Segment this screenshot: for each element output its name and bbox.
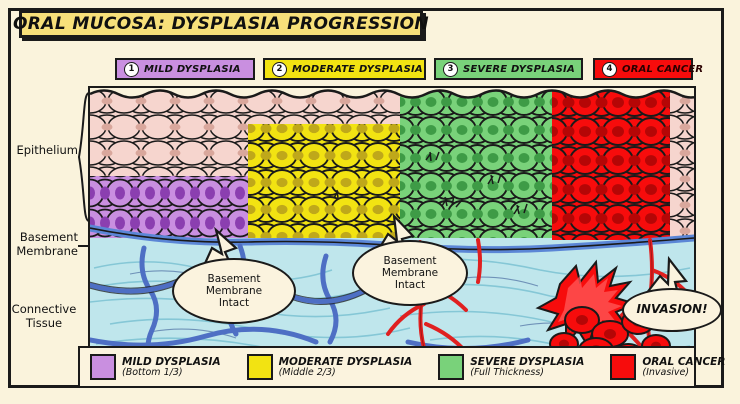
legend-swatch-severe (438, 354, 464, 380)
stage-number-2: 2 (272, 62, 287, 77)
legend-item-cancer: ORAL CANCER (Invasive) (610, 354, 725, 380)
legend-sub-mild: (Bottom 1/3) (122, 368, 221, 379)
stage-label-1: MILD DYSPLASIA (144, 64, 241, 75)
legend-label-cancer: ORAL CANCER (642, 356, 725, 368)
legend-item-mild: MILD DYSPLASIA (Bottom 1/3) (90, 354, 221, 380)
stage-badge-cancer[interactable]: 4 ORAL CANCER (593, 58, 693, 80)
label-connective-tissue: Connective Tissue (8, 303, 80, 330)
stage-number-3: 3 (443, 62, 458, 77)
stage-badge-row: 1 MILD DYSPLASIA 2 MODERATE DYSPLASIA 3 … (115, 58, 693, 80)
callout-2-line2: Membrane (382, 267, 438, 279)
page-title: ORAL MUCOSA: DYSPLASIA PROGRESSION (19, 10, 423, 38)
zone-moderate-dysplasia (248, 88, 400, 238)
tissue-panel (88, 86, 696, 380)
stage-label-4: ORAL CANCER (622, 64, 703, 75)
stage-badge-mild[interactable]: 1 MILD DYSPLASIA (115, 58, 255, 80)
legend-sub-moderate: (Middle 2/3) (279, 368, 413, 379)
callout-1-line1: Basement (206, 273, 262, 285)
legend-sub-cancer: (Invasive) (642, 368, 725, 379)
zone-mild-dysplasia (90, 88, 248, 238)
legend-label-severe: SEVERE DYSPLASIA (470, 356, 584, 368)
stage-number-1: 1 (124, 62, 139, 77)
callout-bm-intact-1: Basement Membrane Intact (172, 258, 296, 324)
callout-2-line1: Basement (382, 255, 438, 267)
label-epithelium: Epithelium (12, 144, 78, 158)
stage-badge-moderate[interactable]: 2 MODERATE DYSPLASIA (263, 58, 426, 80)
zone-severe-dysplasia (400, 88, 552, 238)
callout-invasion: INVASION! (622, 288, 722, 332)
legend: MILD DYSPLASIA (Bottom 1/3) MODERATE DYS… (78, 346, 696, 388)
callout-bm-intact-2: Basement Membrane Intact (352, 240, 468, 306)
label-connective-tissue-line1: Connective (8, 303, 80, 317)
callout-bubble-3: INVASION! (622, 288, 722, 332)
stage-badge-severe[interactable]: 3 SEVERE DYSPLASIA (434, 58, 583, 80)
callout-bubble-1: Basement Membrane Intact (172, 258, 296, 324)
legend-label-moderate: MODERATE DYSPLASIA (279, 356, 413, 368)
callout-bubble-2: Basement Membrane Intact (352, 240, 468, 306)
stage-label-2: MODERATE DYSPLASIA (292, 64, 423, 75)
label-basement-membrane: Basement Membrane (6, 231, 78, 258)
legend-swatch-cancer (610, 354, 636, 380)
label-basement-membrane-line2: Membrane (6, 245, 78, 259)
callout-1-line2: Membrane (206, 285, 262, 297)
legend-label-mild: MILD DYSPLASIA (122, 356, 221, 368)
stage-label-3: SEVERE DYSPLASIA (463, 64, 575, 75)
stage-number-4: 4 (602, 62, 617, 77)
tissue-illustration (90, 88, 694, 378)
callout-1-line3: Intact (206, 297, 262, 309)
callout-invasion-text: INVASION! (636, 303, 707, 317)
legend-sub-severe: (Full Thickness) (470, 368, 584, 379)
label-basement-membrane-line1: Basement (6, 231, 78, 245)
page-title-text: ORAL MUCOSA: DYSPLASIA PROGRESSION (13, 14, 429, 34)
zone-oral-cancer (552, 88, 694, 240)
legend-item-moderate: MODERATE DYSPLASIA (Middle 2/3) (247, 354, 413, 380)
callout-2-line3: Intact (382, 279, 438, 291)
legend-swatch-mild (90, 354, 116, 380)
legend-swatch-moderate (247, 354, 273, 380)
label-connective-tissue-line2: Tissue (8, 317, 80, 331)
diagram-canvas: ORAL MUCOSA: DYSPLASIA PROGRESSION 1 MIL… (0, 0, 740, 404)
legend-item-severe: SEVERE DYSPLASIA (Full Thickness) (438, 354, 584, 380)
